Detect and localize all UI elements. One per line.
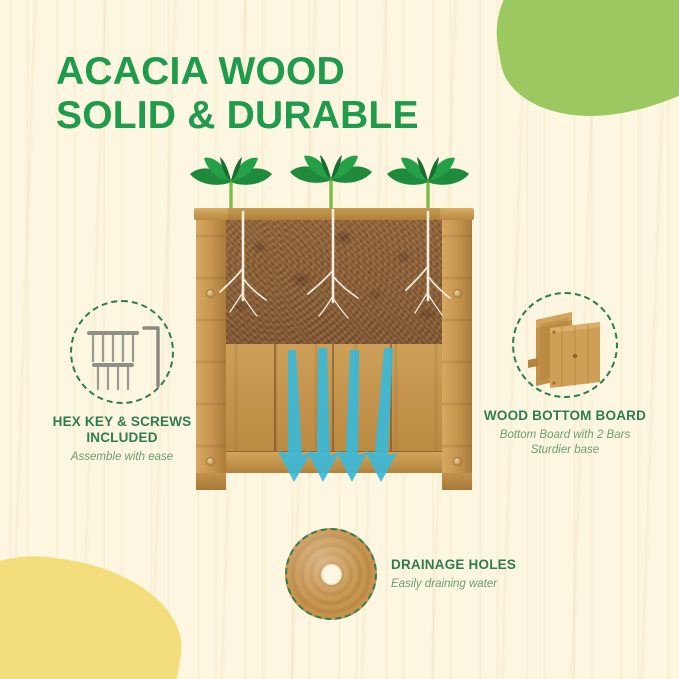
roots-and-drainage-overlay: [178, 150, 488, 512]
headline-line-1: ACACIA WOOD: [56, 50, 345, 93]
feature-subtitle: Easily draining water: [391, 577, 605, 592]
drainage-hole-disc-icon: [285, 528, 377, 620]
hex-key-screws-circle: [70, 300, 174, 404]
feature-title: DRAINAGE HOLES: [391, 557, 605, 573]
wood-bottom-board-circle: [512, 292, 618, 398]
drainage-text-block: DRAINAGE HOLES Easily draining water: [391, 557, 605, 592]
feature-title: HEX KEY & SCREWS INCLUDED: [32, 414, 212, 446]
feature-title: WOOD BOTTOM BOARD: [466, 408, 664, 424]
drainage-arrow-group: [278, 348, 397, 482]
feature-wood-bottom-board: WOOD BOTTOM BOARD Bottom Board with 2 Ba…: [466, 292, 664, 458]
headline-line-2: SOLID & DURABLE: [56, 94, 419, 138]
feature-subtitle-line-2: Sturdier base: [466, 443, 664, 458]
hex-key-and-screws-icon: [72, 302, 176, 406]
top-right-green-blob: [481, 0, 679, 132]
root-system: [220, 210, 450, 318]
drainage-arrow: [278, 350, 311, 482]
drainage-arrow: [336, 350, 367, 482]
planter-illustration: [178, 150, 488, 512]
hex-key-shape: [144, 328, 158, 386]
wood-bottom-board-icon: [514, 294, 620, 400]
feature-title-line-2: INCLUDED: [32, 430, 212, 446]
drainage-hole: [321, 564, 342, 585]
drainage-arrow: [307, 348, 339, 482]
infographic-canvas: ACACIA WOOD SOLID & DURABLE: [0, 0, 679, 679]
feature-subtitle: Assemble with ease: [32, 450, 212, 465]
feature-subtitle-line-1: Bottom Board with 2 Bars: [466, 428, 664, 443]
feature-hex-key-screws: HEX KEY & SCREWS INCLUDED Assemble with …: [32, 300, 212, 465]
feature-drainage-holes: DRAINAGE HOLES Easily draining water: [285, 528, 605, 620]
page-title: ACACIA WOOD SOLID & DURABLE: [56, 50, 419, 137]
feature-subtitle: Bottom Board with 2 Bars Sturdier base: [466, 428, 664, 457]
drainage-arrow: [365, 348, 397, 482]
feature-title-line-1: HEX KEY & SCREWS: [32, 414, 212, 430]
bottom-left-yellow-blob: [0, 543, 192, 679]
